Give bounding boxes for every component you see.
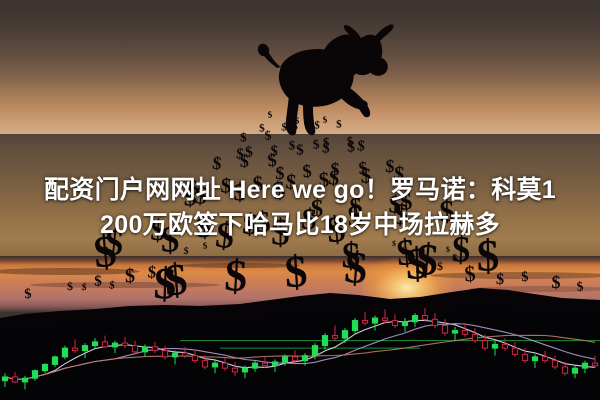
headline-text: 配资门户网网址 Here we go！罗马诺：科莫1 200万欧签下哈马比18岁… — [0, 173, 600, 243]
promo-banner-image: $$$$$$$$$$$$$$$$$$$$$$$$$$$$$$$$$$$$$$$$… — [0, 0, 600, 400]
headline-line-2: 200万欧签下哈马比18岁中场拉赫多 — [0, 208, 600, 243]
candlestick-chart — [0, 300, 600, 400]
bull-silhouette-icon — [255, 22, 395, 138]
headline-line-1: 配资门户网网址 Here we go！罗马诺：科莫1 — [0, 173, 600, 208]
